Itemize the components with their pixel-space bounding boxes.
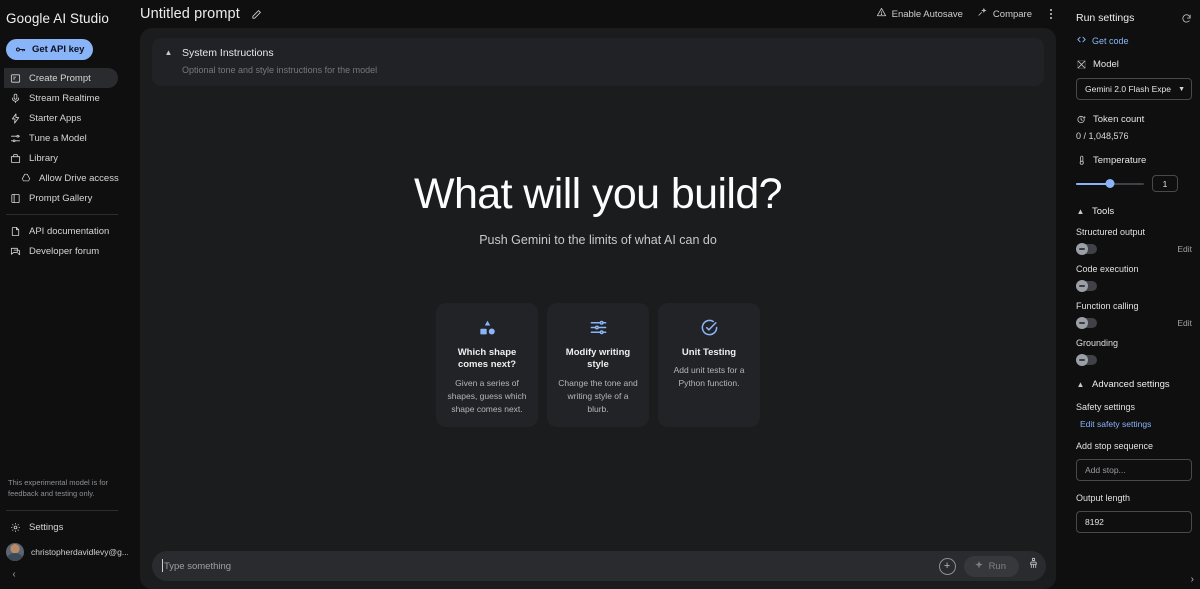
sidebar-item-label: Create Prompt xyxy=(29,73,91,84)
app-brand: Google AI Studio xyxy=(0,0,128,28)
card-desc: Given a series of shapes, guess which sh… xyxy=(445,377,529,415)
gallery-icon xyxy=(10,193,21,204)
tune-icon xyxy=(10,133,21,144)
output-length-input[interactable]: 8192 xyxy=(1076,511,1192,533)
advanced-settings-header[interactable]: ▲ Advanced settings xyxy=(1076,379,1192,390)
get-code-label: Get code xyxy=(1092,36,1129,46)
experimental-note: This experimental model is for feedback … xyxy=(0,477,128,500)
avatar xyxy=(6,543,24,561)
run-settings-title: Run settings xyxy=(1076,12,1134,24)
kebab-menu-icon[interactable] xyxy=(1046,9,1056,19)
sidebar-item-label: Tune a Model xyxy=(29,133,87,144)
forum-icon xyxy=(10,246,21,257)
tool-grounding: Grounding xyxy=(1076,338,1192,365)
safety-settings-label: Safety settings xyxy=(1076,402,1192,412)
tool-name: Structured output xyxy=(1076,227,1192,237)
code-brackets-icon xyxy=(1076,34,1087,47)
token-count-label-row: Token count xyxy=(1076,114,1192,125)
prompt-title[interactable]: Untitled prompt xyxy=(140,6,240,22)
key-icon xyxy=(15,44,26,55)
pencil-icon[interactable] xyxy=(251,9,262,20)
sidebar-item-label: API documentation xyxy=(29,226,109,237)
plus-circle-icon[interactable]: + xyxy=(939,558,956,575)
card-title: Which shape comes next? xyxy=(445,347,529,373)
sidebar-item-stream-realtime[interactable]: Stream Realtime xyxy=(4,88,118,108)
sidebar-item-label: Stream Realtime xyxy=(29,93,100,104)
account-email: christopherdavidlevy@g... xyxy=(31,547,128,557)
toggle-function-calling[interactable] xyxy=(1076,318,1097,328)
composer-wrap: Type something + Run xyxy=(140,551,1056,589)
token-count-label: Token count xyxy=(1093,114,1144,125)
prompt-stage: ▲ System Instructions Optional tone and … xyxy=(140,28,1056,589)
microphone-icon[interactable] xyxy=(1027,557,1040,575)
run-label: Run xyxy=(989,561,1006,572)
get-code-button[interactable]: Get code xyxy=(1076,34,1192,47)
enable-autosave-label: Enable Autosave xyxy=(892,9,963,20)
suggestion-card-writing-style[interactable]: Modify writing style Change the tone and… xyxy=(547,303,649,428)
tool-row: Edit xyxy=(1076,244,1192,254)
composer: Type something + Run xyxy=(152,551,1046,581)
collapse-sidebar-button[interactable]: ‹ xyxy=(4,565,24,583)
sidebar-item-tune-a-model[interactable]: Tune a Model xyxy=(4,128,118,148)
model-select[interactable]: Gemini 2.0 Flash Expe ▼ xyxy=(1076,78,1192,100)
run-settings-header: Run settings xyxy=(1076,0,1192,30)
sidebar-item-label: Library xyxy=(29,153,58,164)
create-prompt-icon xyxy=(10,73,21,84)
system-instructions-title: System Instructions xyxy=(182,47,274,59)
card-desc: Change the tone and writing style of a b… xyxy=(556,377,640,415)
sidebar-item-api-documentation[interactable]: API documentation xyxy=(4,221,118,241)
temperature-label: Temperature xyxy=(1093,155,1146,166)
library-icon xyxy=(10,153,21,164)
sidebar-item-label: Prompt Gallery xyxy=(29,193,92,204)
temperature-slider-row: 1 xyxy=(1076,175,1192,192)
account-row[interactable]: christopherdavidlevy@g... xyxy=(0,541,128,565)
card-title: Modify writing style xyxy=(556,347,640,373)
thermometer-icon xyxy=(1076,155,1087,166)
advanced-settings-label: Advanced settings xyxy=(1092,379,1170,390)
chevron-up-icon[interactable]: ▲ xyxy=(164,49,173,57)
suggestion-card-shapes[interactable]: Which shape comes next? Given a series o… xyxy=(436,303,538,428)
temperature-label-row: Temperature xyxy=(1076,155,1192,166)
tool-row xyxy=(1076,281,1192,291)
main-area: Untitled prompt Enable Autosave xyxy=(128,0,1066,589)
tune-sliders-icon xyxy=(589,317,608,339)
sidebar-item-starter-apps[interactable]: Starter Apps xyxy=(4,108,118,128)
sidebar-item-developer-forum[interactable]: Developer forum xyxy=(4,241,118,261)
check-circle-icon xyxy=(700,317,719,339)
card-title: Unit Testing xyxy=(682,347,736,360)
page-title: What will you build? xyxy=(414,170,782,219)
model-label-row: Model xyxy=(1076,59,1192,70)
run-settings-panel: Run settings Get code Model xyxy=(1066,0,1200,589)
sidebar-item-label: Settings xyxy=(29,522,63,533)
doc-icon xyxy=(10,226,21,237)
sidebar-item-label: Developer forum xyxy=(29,246,99,257)
tool-row xyxy=(1076,355,1192,365)
compare-label: Compare xyxy=(993,9,1032,20)
sidebar-divider xyxy=(6,214,118,215)
card-desc: Add unit tests for a Python function. xyxy=(667,364,751,390)
output-length-label: Output length xyxy=(1076,493,1192,503)
system-instructions-header[interactable]: ▲ System Instructions xyxy=(164,47,1032,59)
toggle-structured-output[interactable] xyxy=(1076,244,1097,254)
run-button[interactable]: Run xyxy=(964,556,1019,577)
prompt-input[interactable]: Type something xyxy=(164,561,231,572)
tool-name: Grounding xyxy=(1076,338,1192,348)
tool-function-calling: Function calling Edit xyxy=(1076,301,1192,328)
chevron-up-icon[interactable]: ▲ xyxy=(1076,381,1085,389)
stop-sequence-input[interactable]: Add stop... xyxy=(1076,459,1192,481)
model-label: Model xyxy=(1093,59,1119,70)
enable-autosave-button[interactable]: Enable Autosave xyxy=(876,7,963,21)
topbar: Untitled prompt Enable Autosave xyxy=(128,0,1066,28)
hero-subhead: Push Gemini to the limits of what AI can… xyxy=(479,233,717,247)
tool-name: Function calling xyxy=(1076,301,1192,311)
model-icon xyxy=(1076,59,1087,70)
suggestion-card-unit-testing[interactable]: Unit Testing Add unit tests for a Python… xyxy=(658,303,760,428)
composer-actions: + Run xyxy=(939,556,1040,577)
edit-safety-settings-link[interactable]: Edit safety settings xyxy=(1076,419,1192,429)
slider-knob[interactable] xyxy=(1106,179,1115,188)
tools-section-header[interactable]: ▲ Tools xyxy=(1076,206,1192,217)
bolt-icon xyxy=(10,113,21,124)
mic-icon xyxy=(10,93,21,104)
tool-name: Code execution xyxy=(1076,264,1192,274)
model-value: Gemini 2.0 Flash Expe xyxy=(1085,84,1171,94)
sidebar-item-create-prompt[interactable]: Create Prompt xyxy=(4,68,118,88)
temperature-value-input[interactable]: 1 xyxy=(1152,175,1178,192)
system-instructions-input[interactable]: Optional tone and style instructions for… xyxy=(164,65,1032,75)
ai-studio-app: Google AI Studio Get API key Create Prom… xyxy=(0,0,1200,589)
hero-section: What will you build? Push Gemini to the … xyxy=(140,86,1056,551)
sidebar: Google AI Studio Get API key Create Prom… xyxy=(0,0,128,589)
topbar-actions: Enable Autosave Compare xyxy=(876,7,1056,21)
sidebar-item-prompt-gallery[interactable]: Prompt Gallery xyxy=(4,188,118,208)
add-stop-sequence-label: Add stop sequence xyxy=(1076,441,1192,451)
edit-function-calling[interactable]: Edit xyxy=(1177,318,1192,328)
drive-icon xyxy=(20,173,31,184)
chevron-down-icon: ▼ xyxy=(1178,86,1185,93)
chevron-up-icon[interactable]: ▲ xyxy=(1076,208,1085,216)
tool-structured-output: Structured output Edit xyxy=(1076,227,1192,254)
gear-icon xyxy=(10,522,21,533)
sidebar-nav: Get API key Create Prompt Stream Realtim… xyxy=(0,28,128,477)
tools-label: Tools xyxy=(1092,206,1114,217)
sidebar-divider-bottom xyxy=(6,510,118,511)
sidebar-item-settings[interactable]: Settings xyxy=(4,517,118,537)
suggestion-cards: Which shape comes next? Given a series o… xyxy=(436,303,760,428)
edit-structured-output[interactable]: Edit xyxy=(1177,244,1192,254)
sparkle-icon xyxy=(974,560,984,573)
compare-button[interactable]: Compare xyxy=(977,7,1032,21)
token-count-value: 0 / 1,048,576 xyxy=(1076,131,1192,141)
sidebar-footer: This experimental model is for feedback … xyxy=(0,477,128,589)
toggle-grounding[interactable] xyxy=(1076,355,1097,365)
get-api-key-button[interactable]: Get API key xyxy=(6,39,93,60)
autosave-icon xyxy=(876,7,887,21)
sidebar-item-allow-drive-access[interactable]: Allow Drive access xyxy=(4,168,118,188)
tool-row: Edit xyxy=(1076,318,1192,328)
token-icon xyxy=(1076,114,1087,125)
sparkle-compare-icon xyxy=(977,7,988,21)
tool-code-execution: Code execution xyxy=(1076,264,1192,291)
sidebar-item-label: Allow Drive access xyxy=(39,173,119,184)
refresh-icon[interactable] xyxy=(1181,13,1192,24)
sidebar-item-label: Starter Apps xyxy=(29,113,81,124)
toggle-code-execution[interactable] xyxy=(1076,281,1097,291)
sidebar-item-library[interactable]: Library xyxy=(4,148,118,168)
get-api-key-label: Get API key xyxy=(32,44,84,55)
chevron-right-icon[interactable]: › xyxy=(1191,574,1194,585)
temperature-slider[interactable] xyxy=(1076,178,1144,190)
system-instructions-panel[interactable]: ▲ System Instructions Optional tone and … xyxy=(152,38,1044,86)
shapes-icon xyxy=(478,317,497,339)
